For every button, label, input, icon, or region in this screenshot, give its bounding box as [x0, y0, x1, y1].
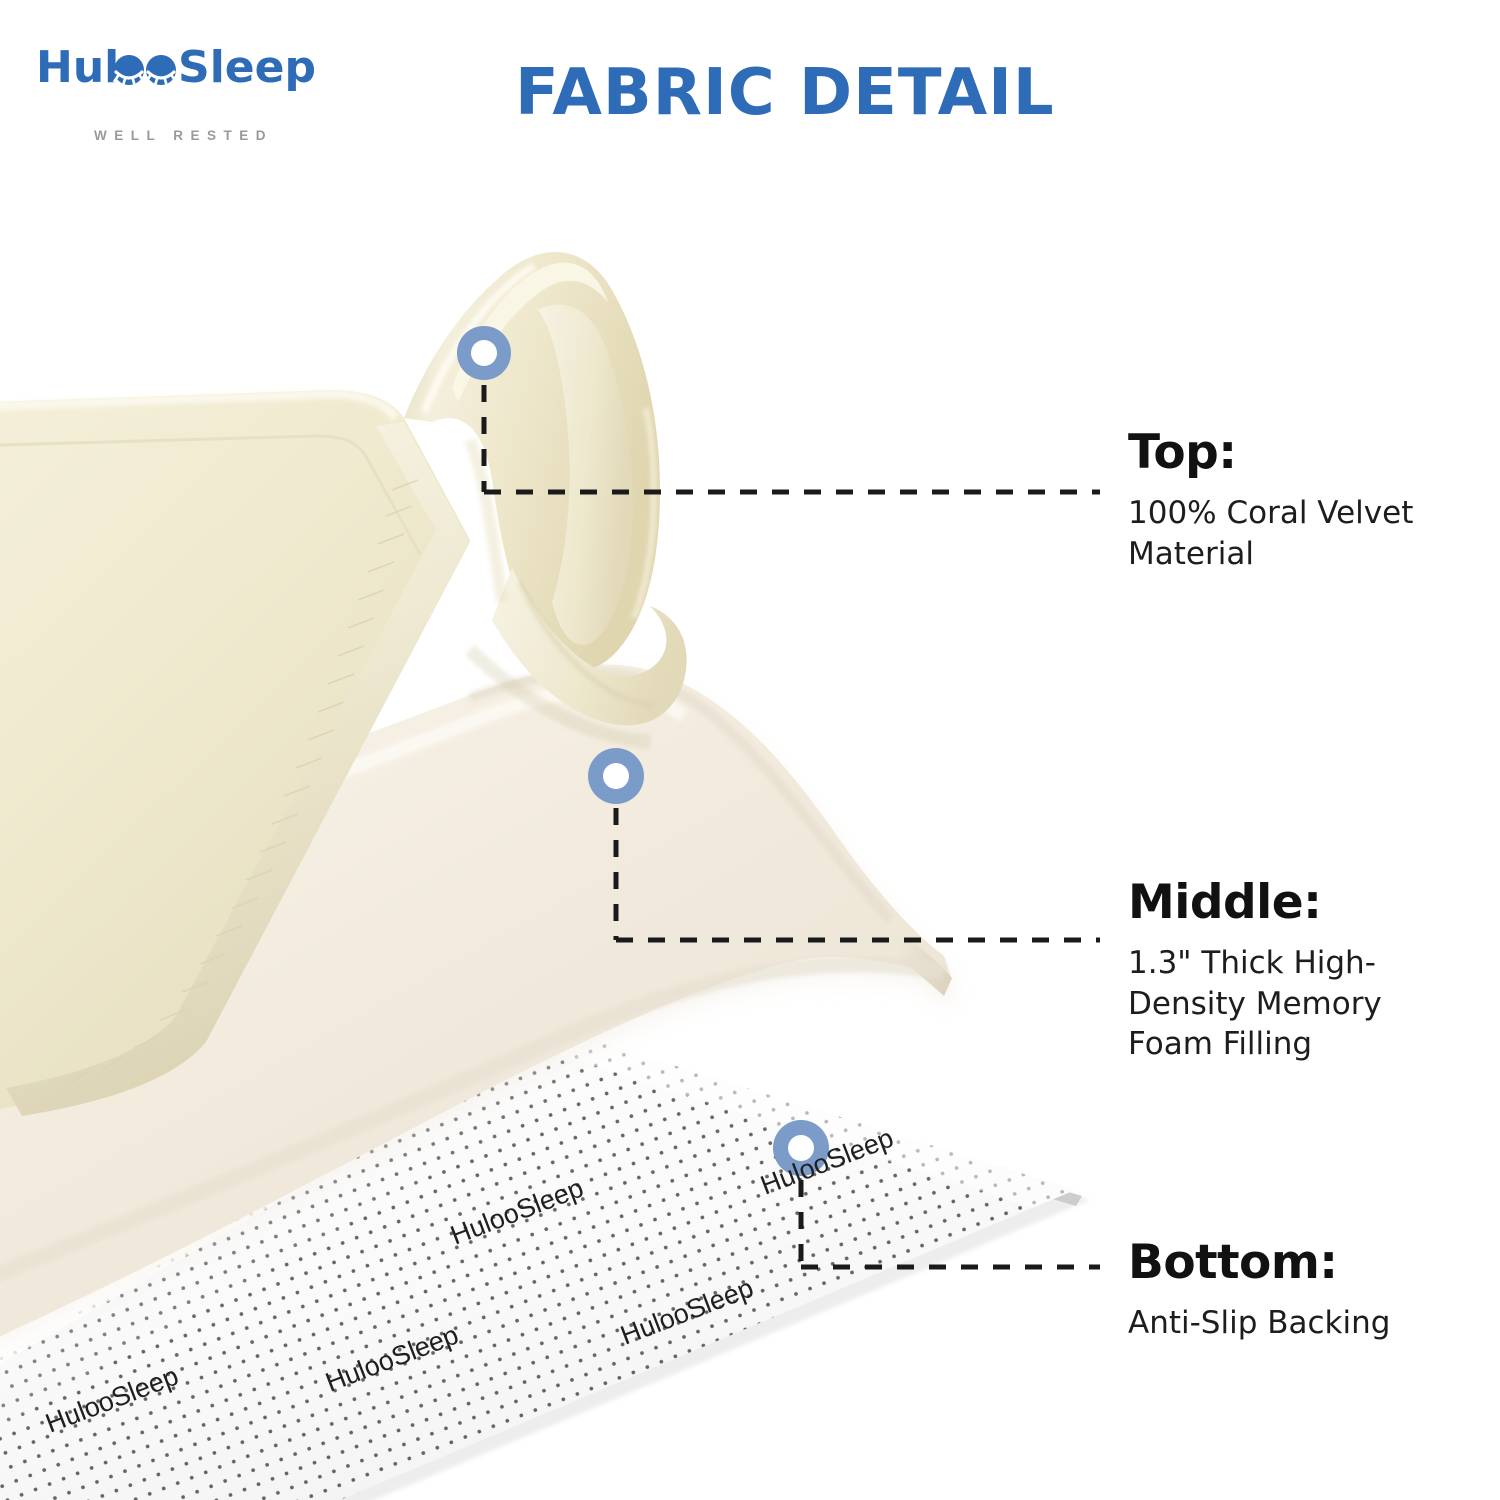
callout-heading-bottom: Bottom: — [1128, 1238, 1468, 1287]
product-layers-graphic — [0, 150, 1120, 1500]
brand-logo: Hul Sleep WELL RESTED — [36, 40, 336, 118]
sleepy-eye-icon-2 — [146, 55, 176, 85]
brand-name-part-1: Hul — [36, 42, 119, 93]
callout-body-top: 100% Coral Velvet Material — [1128, 493, 1468, 574]
callout-heading-middle: Middle: — [1128, 878, 1468, 927]
callout-text-top: Top: 100% Coral Velvet Material — [1128, 428, 1468, 574]
sleepy-eye-icon-1 — [114, 55, 144, 85]
callout-body-middle: 1.3" Thick High-Density Memory Foam Fill… — [1128, 943, 1468, 1064]
callout-heading-top: Top: — [1128, 428, 1468, 477]
callout-text-bottom: Bottom: Anti-Slip Backing — [1128, 1238, 1468, 1344]
brand-name-part-2: Sleep — [178, 42, 316, 93]
callout-body-bottom: Anti-Slip Backing — [1128, 1303, 1468, 1343]
product-illustration — [0, 150, 1120, 1500]
brand-logo-wordmark: Hul Sleep — [36, 40, 336, 94]
page-title: FABRIC DETAIL — [515, 56, 1165, 130]
brand-tagline: WELL RESTED — [94, 128, 334, 143]
callout-text-middle: Middle: 1.3" Thick High-Density Memory F… — [1128, 878, 1468, 1064]
